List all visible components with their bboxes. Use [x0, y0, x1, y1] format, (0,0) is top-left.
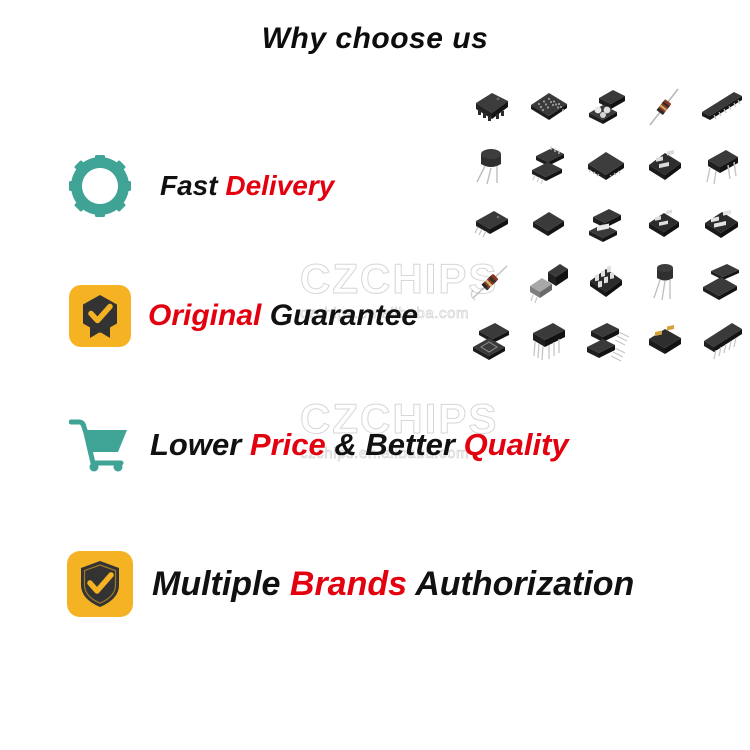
feature-text-part: Guarantee: [270, 299, 418, 332]
feature-label: Original Guarantee: [148, 301, 418, 331]
component-qfn-pads: [635, 195, 693, 253]
component-to-92-transistor: [462, 136, 520, 194]
component-bga-package: [520, 78, 578, 136]
component-dip-package: [520, 312, 578, 370]
component-plcc-stacked: [462, 312, 520, 370]
component-zener-diode: [462, 253, 520, 311]
shield-check-icon-wrap: [60, 544, 140, 624]
badge-check-icon-wrap: [60, 276, 140, 356]
feature-text-part: Lower: [150, 427, 250, 462]
component-to-92-transistor-2: [635, 253, 693, 311]
feature-lower-price: Lower Price & Better Quality: [60, 404, 569, 484]
feature-text-part: Brands: [290, 565, 407, 603]
shopping-cart-icon: [69, 416, 131, 472]
product-components-image: [462, 78, 750, 370]
component-sop-wide: [692, 312, 750, 370]
icon-tile: [69, 285, 131, 347]
feature-text-part: Multiple: [152, 565, 290, 603]
icon-tile: [67, 551, 133, 617]
component-qfn-package: [462, 78, 520, 136]
component-small-soic: [462, 195, 520, 253]
why-choose-us-banner: Why choose us: [0, 0, 750, 750]
component-sot-package: [577, 195, 635, 253]
feature-label: Lower Price & Better Quality: [150, 429, 569, 460]
shield-check-icon: [77, 559, 123, 609]
feature-text-part: Original: [148, 299, 270, 332]
feature-text-part: Quality: [464, 427, 569, 462]
badge-check-icon: [77, 292, 123, 340]
component-qfn-pad-array: [577, 253, 635, 311]
component-to-263-pair: [520, 253, 578, 311]
component-stacked-qfp: [692, 253, 750, 311]
page-title: Why choose us: [0, 22, 750, 56]
component-stacked-soic-chips: [520, 136, 578, 194]
component-qfp-chip: [577, 136, 635, 194]
feature-label: Fast Delivery: [160, 172, 334, 200]
feature-label: Multiple Brands Authorization: [152, 567, 634, 601]
component-gold-pad-chip: [635, 312, 693, 370]
feature-text-part: Authorization: [407, 565, 634, 603]
feature-text-part: Fast: [160, 170, 225, 201]
component-stacked-smd-modules: [577, 78, 635, 136]
component-qfn-leadless: [520, 195, 578, 253]
shopping-cart-icon-wrap: [60, 404, 140, 484]
feature-original-guarantee: Original Guarantee: [60, 276, 418, 356]
component-dip-chip-angled: [692, 78, 750, 136]
feature-text-part: & Better: [326, 427, 464, 462]
component-dfn-dual-pad-chip: [635, 136, 693, 194]
feature-fast-delivery: Fast Delivery: [60, 146, 334, 226]
feature-text-part: Delivery: [225, 170, 334, 201]
component-axial-diode: [635, 78, 693, 136]
feature-text-part: Price: [250, 427, 326, 462]
component-dip-socket-chip: [692, 136, 750, 194]
gear-icon: [69, 155, 131, 217]
component-power-dfn: [692, 195, 750, 253]
feature-multiple-brands: Multiple Brands Authorization: [60, 544, 634, 624]
gear-icon-wrap: [60, 146, 140, 226]
component-to-220-pair: [577, 312, 635, 370]
